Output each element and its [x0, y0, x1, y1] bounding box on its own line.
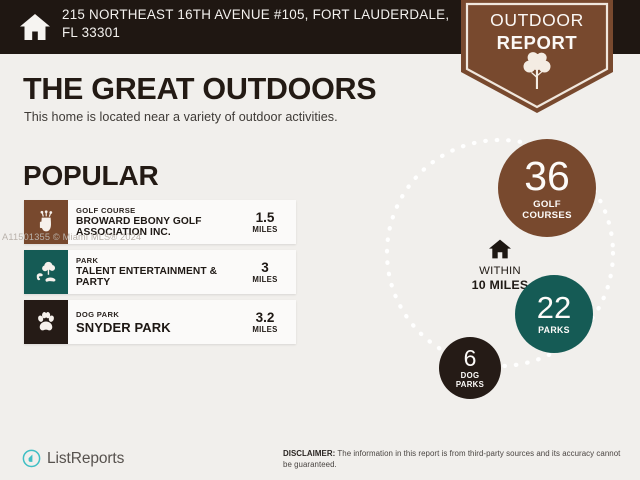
poi-distance: 3 MILES [238, 250, 296, 294]
paw-print-icon [34, 310, 58, 334]
poi-name: Snyder Park [76, 320, 238, 335]
poi-text: Dog Park Snyder Park [68, 300, 238, 344]
count-label-line2: PARKS [456, 380, 484, 389]
poi-name: Broward Ebony Golf Association Inc. [76, 216, 238, 239]
poi-category: Dog Park [76, 310, 238, 320]
outdoor-counts-infographic: WITHIN 10 MILES 36 GOLF COURSES 22 PARKS… [360, 125, 640, 425]
poi-category: Golf Course [76, 206, 238, 216]
park-tree-icon [34, 260, 58, 284]
home-icon [488, 237, 512, 261]
page-subtitle: This home is located near a variety of o… [24, 110, 338, 124]
within-line1: WITHIN [460, 264, 540, 278]
outdoor-report-page: 215 Northeast 16th Avenue #105, Fort Lau… [0, 0, 640, 480]
poi-distance-value: 3 [261, 260, 269, 275]
count-value: 36 [524, 156, 570, 197]
poi-icon-box [24, 200, 68, 244]
count-label-line1: PARKS [538, 325, 570, 336]
poi-distance-unit: MILES [252, 325, 277, 335]
listreports-logo-text: ListReports [47, 450, 124, 468]
poi-distance: 1.5 MILES [238, 200, 296, 244]
count-bubble-dog-parks: 6 DOG PARKS [439, 337, 501, 399]
poi-text: Golf Course Broward Ebony Golf Associati… [68, 200, 238, 244]
poi-distance-value: 3.2 [256, 310, 275, 325]
poi-icon-box [24, 250, 68, 294]
outdoor-report-badge: OUTDOOR REPORT [461, 0, 613, 113]
list-item[interactable]: Dog Park Snyder Park 3.2 MILES [24, 300, 296, 344]
poi-distance-unit: MILES [252, 275, 277, 285]
poi-distance-unit: MILES [252, 225, 277, 235]
disclaimer-label: DISCLAIMER: [283, 449, 335, 458]
section-heading-popular: Popular [23, 160, 159, 192]
golf-bag-icon [34, 210, 58, 234]
page-title: The Great Outdoors [23, 72, 376, 107]
poi-text: Park Talent Entertainment & Party [68, 250, 238, 294]
listreports-logo[interactable]: ListReports [22, 449, 124, 468]
count-label-line1: DOG [461, 371, 480, 380]
count-bubble-golf-courses: 36 GOLF COURSES [498, 139, 596, 237]
tree-icon [522, 52, 552, 90]
poi-distance-value: 1.5 [256, 210, 275, 225]
listreports-house-pin-icon [22, 449, 41, 468]
list-item[interactable]: Park Talent Entertainment & Party 3 MILE… [24, 250, 296, 294]
poi-distance: 3.2 MILES [238, 300, 296, 344]
popular-poi-list: Golf Course Broward Ebony Golf Associati… [24, 200, 296, 350]
poi-name: Talent Entertainment & Party [76, 266, 238, 289]
list-item[interactable]: Golf Course Broward Ebony Golf Associati… [24, 200, 296, 244]
poi-icon-box [24, 300, 68, 344]
poi-category: Park [76, 256, 238, 266]
count-value: 6 [464, 347, 477, 370]
property-address: 215 Northeast 16th Avenue #105, Fort Lau… [62, 6, 450, 41]
count-bubble-parks: 22 PARKS [515, 275, 593, 353]
count-label-line2: COURSES [522, 210, 572, 221]
disclaimer: DISCLAIMER: The information in this repo… [283, 449, 625, 470]
count-label-line1: GOLF [533, 199, 561, 210]
count-value: 22 [537, 292, 571, 323]
home-icon [18, 10, 52, 44]
